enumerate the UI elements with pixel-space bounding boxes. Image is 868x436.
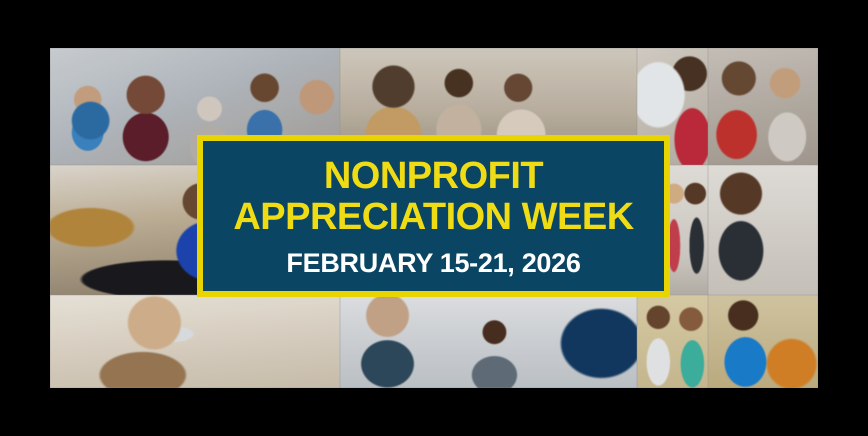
photo-youth-group [637,295,708,388]
photo-workplace-tech [340,295,637,388]
collage-cell-seated-panel-2 [708,165,818,295]
photo-rally-crowd [708,48,818,165]
photo-youth-sports [708,295,818,388]
photo-senior-care [50,295,340,388]
collage-cell-rally-crowd [708,48,818,165]
collage-cell-workplace-tech [340,295,637,388]
collage-cell-youth-group [637,295,708,388]
banner-graphic: NONPROFIT APPRECIATION WEEK FEBRUARY 15-… [0,0,868,436]
collage-cell-youth-sports [708,295,818,388]
announcement-banner-inner: NONPROFIT APPRECIATION WEEK FEBRUARY 15-… [203,141,664,291]
photo-seated-panel-2 [708,165,818,295]
banner-date-range: FEBRUARY 15-21, 2026 [286,248,580,279]
banner-title-line-1: NONPROFIT [324,157,543,197]
announcement-banner: NONPROFIT APPRECIATION WEEK FEBRUARY 15-… [197,135,670,297]
collage-cell-senior-care [50,295,340,388]
banner-title-line-2: APPRECIATION WEEK [233,198,633,238]
